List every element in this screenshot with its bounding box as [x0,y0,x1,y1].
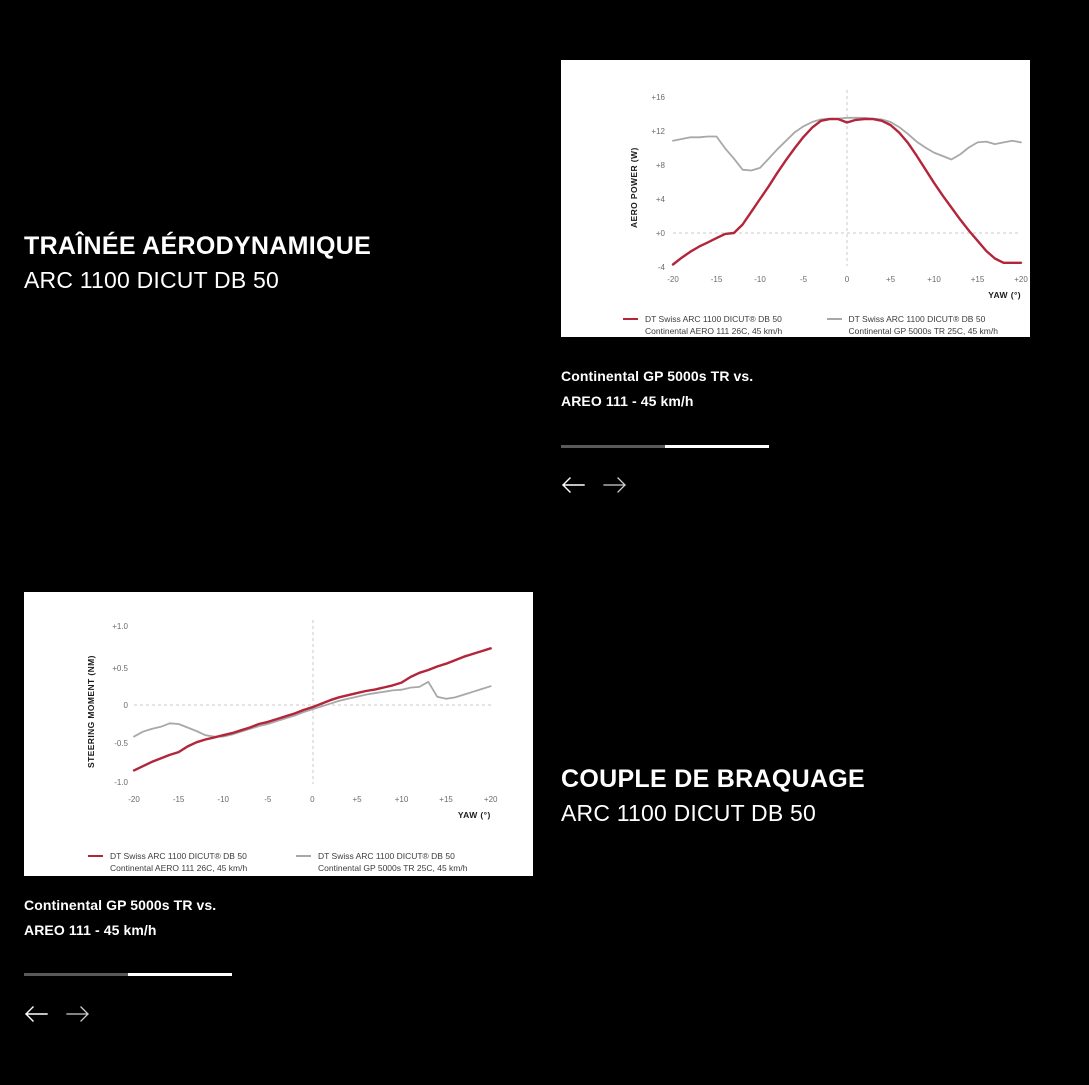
page-subtitle: ARC 1100 DICUT DB 50 [561,800,865,827]
carousel-progress-bar[interactable] [561,445,769,448]
steering-moment-chart-panel: STEERING MOMENT (NM) +1.0 +0.5 0 -0.5 -1… [24,592,533,876]
legend-item-red: DT Swiss ARC 1100 DICUT® DB 50 Continent… [88,850,296,875]
legend-gray-line2: Continental GP 5000s TR 25C, 45 km/h [318,862,467,874]
x-tick-plus10: +10 [927,275,941,284]
x-tick-plus20: +20 [1014,275,1028,284]
page-title: COUPLE DE BRAQUAGE [561,765,865,795]
y-tick-8: +8 [656,161,666,170]
next-arrow-icon[interactable] [65,1004,91,1024]
caption-line-1: Continental GP 5000s TR vs. [561,364,753,389]
caption-line-2: AREO 111 - 45 km/h [561,389,753,414]
x-tick-minus10: -10 [217,795,229,804]
x-tick-minus15: -15 [173,795,185,804]
prev-arrow-icon[interactable] [560,475,586,495]
y-tick-0: +0 [656,229,666,238]
x-tick-plus15: +15 [971,275,985,284]
caption-line-1: Continental GP 5000s TR vs. [24,893,216,918]
x-tick-plus5: +5 [352,795,362,804]
x-tick-0: 0 [310,795,315,804]
next-arrow-icon[interactable] [602,475,628,495]
legend-dash-gray-icon [827,318,842,320]
x-tick-plus10: +10 [395,795,409,804]
legend-item-gray: DT Swiss ARC 1100 DICUT® DB 50 Continent… [827,313,1031,338]
x-tick-minus5: -5 [800,275,808,284]
y-tick-plus1: +1.0 [112,622,128,631]
legend-gray-line1: DT Swiss ARC 1100 DICUT® DB 50 [318,850,467,862]
steering-torque-caption: Continental GP 5000s TR vs. AREO 111 - 4… [24,893,216,942]
x-tick-0: 0 [845,275,850,284]
x-tick-plus15: +15 [439,795,453,804]
x-tick-minus15: -15 [711,275,723,284]
x-tick-plus20: +20 [484,795,498,804]
y-tick-0: 0 [124,701,129,710]
legend-dash-red-icon [623,318,638,320]
y-tick-minus05: -0.5 [114,739,128,748]
aero-drag-caption: Continental GP 5000s TR vs. AREO 111 - 4… [561,364,753,413]
legend-red-line1: DT Swiss ARC 1100 DICUT® DB 50 [645,313,782,325]
x-tick-minus10: -10 [754,275,766,284]
x-tick-minus20: -20 [667,275,679,284]
aero-drag-heading-group: TRAÎNÉE AÉRODYNAMIQUE ARC 1100 DICUT DB … [24,232,371,294]
legend-gray-line1: DT Swiss ARC 1100 DICUT® DB 50 [849,313,998,325]
aero-power-chart-panel: AERO POWER (W) +16 +12 +8 +4 +0 -4 -20 -… [561,60,1030,337]
aero-power-chart: AERO POWER (W) +16 +12 +8 +4 +0 -4 -20 -… [561,60,1030,337]
x-axis-label: YAW (°) [988,290,1021,300]
progress-segment-1[interactable] [561,445,665,448]
y-tick-16: +16 [651,93,665,102]
legend-item-gray: DT Swiss ARC 1100 DICUT® DB 50 Continent… [296,850,504,875]
y-axis-label: STEERING MOMENT (NM) [86,655,96,768]
legend-gray-line2: Continental GP 5000s TR 25C, 45 km/h [849,325,998,337]
progress-segment-2[interactable] [128,973,232,976]
chart-legend: DT Swiss ARC 1100 DICUT® DB 50 Continent… [561,313,1030,338]
steering-moment-chart: STEERING MOMENT (NM) +1.0 +0.5 0 -0.5 -1… [24,592,533,876]
series-gray-line [134,682,491,737]
y-tick-minus1: -1.0 [114,778,128,787]
legend-dash-gray-icon [296,855,311,857]
chart-legend: DT Swiss ARC 1100 DICUT® DB 50 Continent… [24,850,533,875]
y-tick-plus05: +0.5 [112,664,128,673]
carousel-nav-arrows[interactable] [23,1004,91,1024]
legend-dash-red-icon [88,855,103,857]
caption-line-2: AREO 111 - 45 km/h [24,918,216,943]
x-tick-minus5: -5 [264,795,272,804]
page-title: TRAÎNÉE AÉRODYNAMIQUE [24,232,371,262]
y-tick-minus4: -4 [658,263,666,272]
steering-torque-heading-group: COUPLE DE BRAQUAGE ARC 1100 DICUT DB 50 [561,765,865,827]
y-tick-12: +12 [651,127,665,136]
carousel-nav-arrows[interactable] [560,475,628,495]
x-tick-minus20: -20 [128,795,140,804]
y-axis-label: AERO POWER (W) [629,147,639,228]
progress-segment-2[interactable] [665,445,769,448]
y-tick-4: +4 [656,195,666,204]
x-axis-label: YAW (°) [458,810,491,820]
legend-red-line2: Continental AERO 111 26C, 45 km/h [645,325,782,337]
page-subtitle: ARC 1100 DICUT DB 50 [24,267,371,294]
legend-red-line2: Continental AERO 111 26C, 45 km/h [110,862,247,874]
progress-segment-1[interactable] [24,973,128,976]
legend-item-red: DT Swiss ARC 1100 DICUT® DB 50 Continent… [623,313,827,338]
legend-red-line1: DT Swiss ARC 1100 DICUT® DB 50 [110,850,247,862]
x-tick-plus5: +5 [886,275,896,284]
prev-arrow-icon[interactable] [23,1004,49,1024]
carousel-progress-bar[interactable] [24,973,232,976]
